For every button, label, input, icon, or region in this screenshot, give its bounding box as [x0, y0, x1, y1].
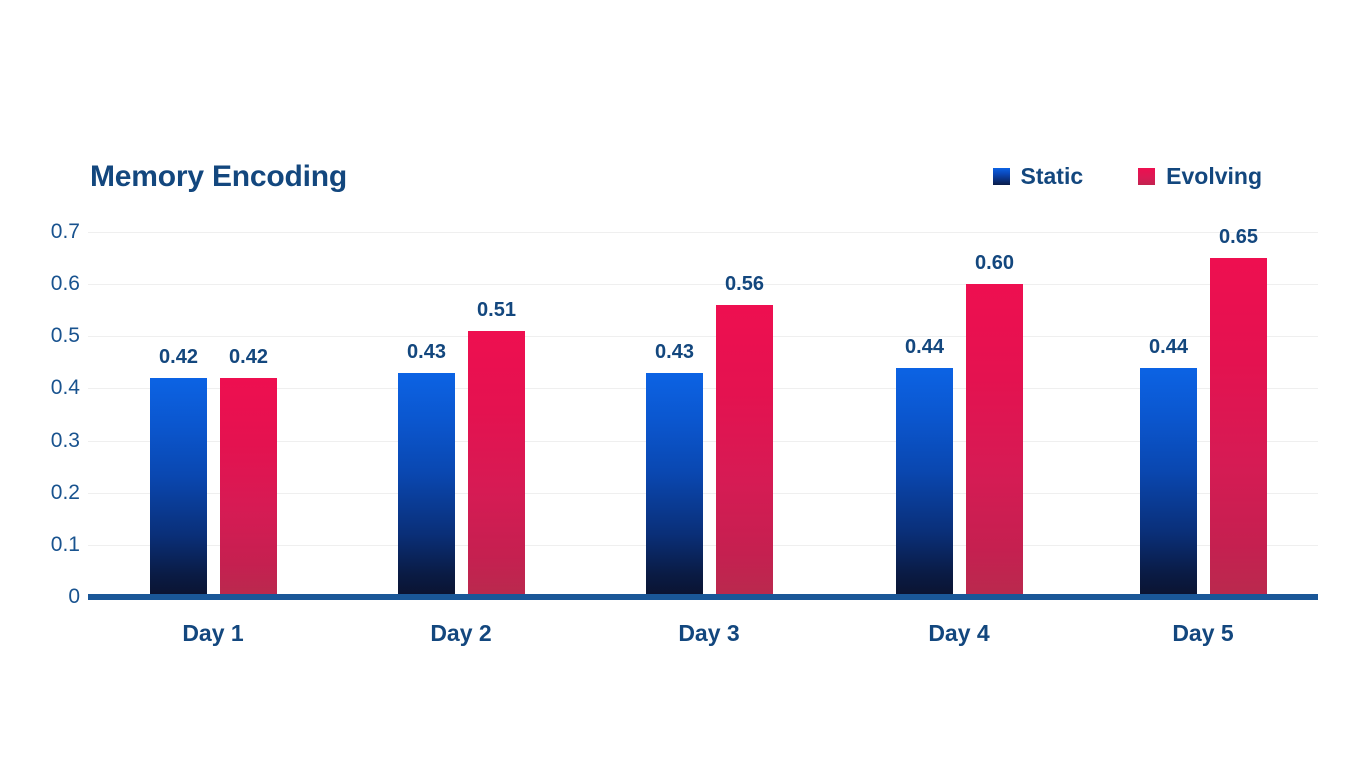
- bar-static-day-3[interactable]: 0.43: [646, 373, 703, 597]
- x-axis-line: [88, 594, 1318, 600]
- bar-static-day-2[interactable]: 0.43: [398, 373, 455, 597]
- x-label-day-4: Day 4: [884, 620, 1034, 647]
- y-tick-0.7: 0.7: [22, 220, 80, 244]
- y-tick-0: 0: [22, 585, 80, 609]
- bar-value-static-day-3: 0.43: [655, 341, 694, 364]
- bar-value-static-day-1: 0.42: [159, 346, 198, 369]
- plot-area: 0.42 0.42 0.43 0.51 0.43 0.56: [88, 232, 1318, 597]
- y-tick-0.1: 0.1: [22, 533, 80, 557]
- bar-value-static-day-5: 0.44: [1149, 336, 1188, 359]
- legend-swatch-evolving-icon: [1138, 168, 1155, 185]
- bar-value-evolving-day-1: 0.42: [229, 346, 268, 369]
- bar-value-evolving-day-4: 0.60: [975, 252, 1014, 275]
- legend-swatch-static-icon: [993, 168, 1010, 185]
- bar-static-day-5[interactable]: 0.44: [1140, 368, 1197, 597]
- bar-evolving-day-1[interactable]: 0.42: [220, 378, 277, 597]
- gridline-0.6: [88, 284, 1318, 285]
- x-label-day-3: Day 3: [634, 620, 784, 647]
- legend-label-evolving: Evolving: [1166, 163, 1262, 190]
- y-tick-0.3: 0.3: [22, 429, 80, 453]
- bar-static-day-4[interactable]: 0.44: [896, 368, 953, 597]
- bar-evolving-day-2[interactable]: 0.51: [468, 331, 525, 597]
- bar-evolving-day-4[interactable]: 0.60: [966, 284, 1023, 597]
- gridline-0.7: [88, 232, 1318, 233]
- bar-value-evolving-day-3: 0.56: [725, 273, 764, 296]
- y-tick-0.5: 0.5: [22, 324, 80, 348]
- bar-value-evolving-day-5: 0.65: [1219, 226, 1258, 249]
- bar-value-evolving-day-2: 0.51: [477, 299, 516, 322]
- bar-value-static-day-2: 0.43: [407, 341, 446, 364]
- bar-static-day-1[interactable]: 0.42: [150, 378, 207, 597]
- x-label-day-2: Day 2: [386, 620, 536, 647]
- bar-value-static-day-4: 0.44: [905, 336, 944, 359]
- x-label-day-5: Day 5: [1128, 620, 1278, 647]
- memory-encoding-bar-chart: Memory Encoding Static Evolving 0.7 0.6 …: [0, 0, 1357, 763]
- gridline-0.5: [88, 336, 1318, 337]
- y-tick-0.6: 0.6: [22, 272, 80, 296]
- chart-title: Memory Encoding: [90, 160, 347, 194]
- legend-label-static: Static: [1021, 163, 1084, 190]
- y-tick-0.4: 0.4: [22, 376, 80, 400]
- chart-legend: Static Evolving: [993, 163, 1263, 190]
- legend-item-evolving[interactable]: Evolving: [1138, 163, 1262, 190]
- legend-item-static[interactable]: Static: [993, 163, 1084, 190]
- bar-evolving-day-3[interactable]: 0.56: [716, 305, 773, 597]
- y-tick-0.2: 0.2: [22, 481, 80, 505]
- bar-evolving-day-5[interactable]: 0.65: [1210, 258, 1267, 597]
- x-label-day-1: Day 1: [138, 620, 288, 647]
